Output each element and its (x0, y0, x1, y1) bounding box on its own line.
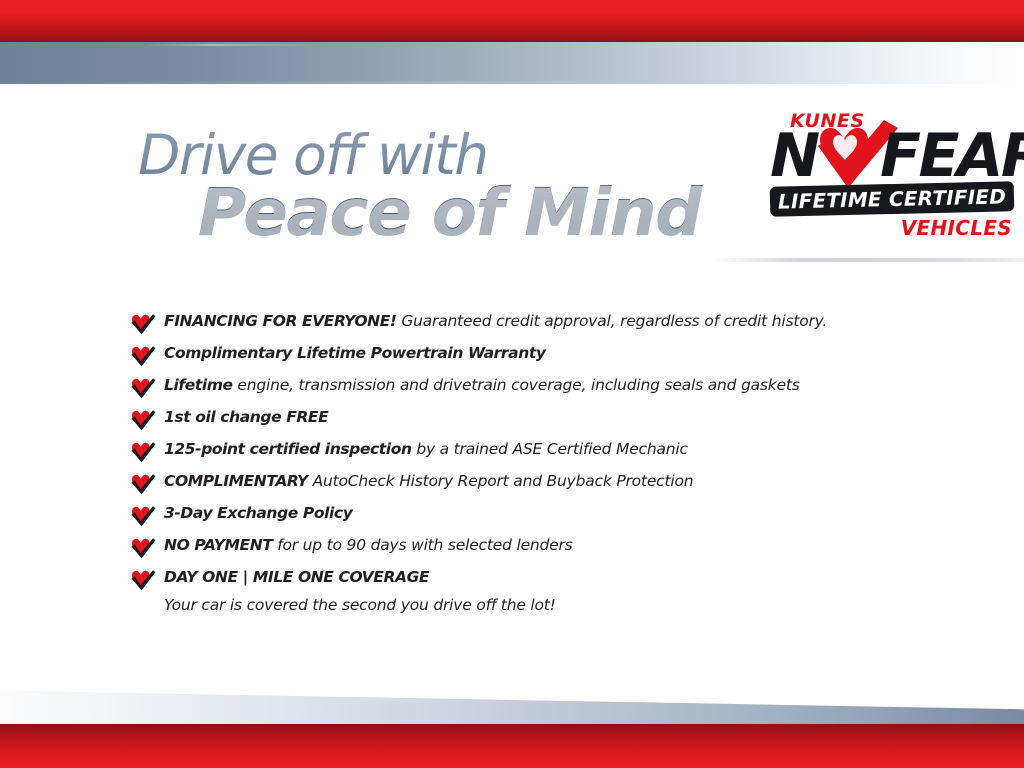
logo-lifetime-certified-bar: LIFETIME CERTIFIED (770, 181, 1015, 217)
feature-text: COMPLIMENTARY AutoCheck History Report a… (164, 470, 693, 492)
feature-subtext: Your car is covered the second you drive… (164, 594, 556, 616)
feature-text-bold: Complimentary Lifetime Powertrain Warran… (164, 344, 546, 362)
heart-check-icon (130, 377, 156, 399)
feature-item: FINANCING FOR EVERYONE! Guaranteed credi… (130, 310, 930, 342)
logo-bar-text: LIFETIME CERTIFIED (778, 184, 1007, 213)
logo-word-fear: FEAR (880, 126, 1024, 186)
logo-letter-n: N (770, 126, 818, 186)
feature-text-rest: AutoCheck History Report and Buyback Pro… (308, 472, 694, 490)
feature-text-rest: by a trained ASE Certified Mechanic (412, 440, 688, 458)
feature-item: Lifetime engine, transmission and drivet… (130, 374, 930, 406)
feature-item: 3-Day Exchange Policy (130, 502, 930, 534)
feature-text: DAY ONE | MILE ONE COVERAGE (164, 566, 429, 588)
feature-text: 125-point certified inspection by a trai… (164, 438, 688, 460)
heart-check-icon (130, 473, 156, 495)
feature-text: 1st oil change FREE (164, 406, 328, 428)
heart-check-icon (130, 409, 156, 431)
feature-item: 1st oil change FREE (130, 406, 930, 438)
top-red-band (0, 0, 1024, 42)
feature-text-bold: COMPLIMENTARY (164, 472, 308, 490)
logo-no-fear-wordmark: N FEAR (768, 124, 1016, 186)
feature-text-bold: FINANCING FOR EVERYONE! (164, 312, 397, 330)
feature-text-bold: NO PAYMENT (164, 536, 272, 554)
heart-check-icon (130, 569, 156, 591)
feature-text: Complimentary Lifetime Powertrain Warran… (164, 342, 546, 364)
heart-check-icon (130, 345, 156, 367)
heart-check-icon (130, 537, 156, 559)
feature-text-rest: Guaranteed credit approval, regardless o… (397, 312, 828, 330)
feature-text: FINANCING FOR EVERYONE! Guaranteed credi… (164, 310, 827, 332)
top-band-highlight (140, 44, 320, 46)
feature-text-bold: Lifetime (164, 376, 233, 394)
heart-check-icon (130, 441, 156, 463)
feature-text-rest: engine, transmission and drivetrain cove… (233, 376, 800, 394)
feature-item: COMPLIMENTARY AutoCheck History Report a… (130, 470, 930, 502)
kunes-no-fear-logo: KUNES N FEAR LIFETIME CERTIFIED VEHICLES (766, 104, 1016, 244)
heart-check-icon (130, 313, 156, 335)
feature-item: NO PAYMENT for up to 90 days with select… (130, 534, 930, 566)
bottom-gray-band (0, 686, 1024, 726)
feature-list: FINANCING FOR EVERYONE! Guaranteed credi… (130, 310, 930, 598)
heart-check-icon (130, 473, 156, 495)
bottom-gray-band-fill (0, 690, 1024, 726)
header-divider (710, 258, 1024, 262)
headline-block: Drive off with Peace of Mind (138, 126, 738, 248)
heart-check-icon (130, 569, 156, 591)
feature-text: Lifetime engine, transmission and drivet… (164, 374, 800, 396)
logo-tagline-vehicles: VEHICLES (901, 216, 1012, 240)
heart-check-icon (130, 441, 156, 463)
feature-text-bold: 1st oil change FREE (164, 408, 328, 426)
feature-text: NO PAYMENT for up to 90 days with select… (164, 534, 573, 556)
top-gray-band (0, 42, 1024, 84)
headline-line-2: Peace of Mind (198, 178, 738, 248)
heart-check-icon (130, 537, 156, 559)
heart-check-icon (130, 313, 156, 335)
heart-check-icon (130, 505, 156, 527)
feature-item: 125-point certified inspection by a trai… (130, 438, 930, 470)
heart-check-icon (130, 409, 156, 431)
feature-text-bold: DAY ONE | MILE ONE COVERAGE (164, 568, 429, 586)
promo-banner: Drive off with Peace of Mind KUNES N FEA… (0, 0, 1024, 768)
feature-text-rest: for up to 90 days with selected lenders (272, 536, 572, 554)
heart-check-icon (130, 377, 156, 399)
feature-text-bold: 125-point certified inspection (164, 440, 412, 458)
feature-text-bold: 3-Day Exchange Policy (164, 504, 352, 522)
feature-item: Complimentary Lifetime Powertrain Warran… (130, 342, 930, 374)
heart-check-icon (130, 345, 156, 367)
heart-check-icon (130, 505, 156, 527)
feature-text: 3-Day Exchange Policy (164, 502, 352, 524)
bottom-red-band (0, 724, 1024, 768)
